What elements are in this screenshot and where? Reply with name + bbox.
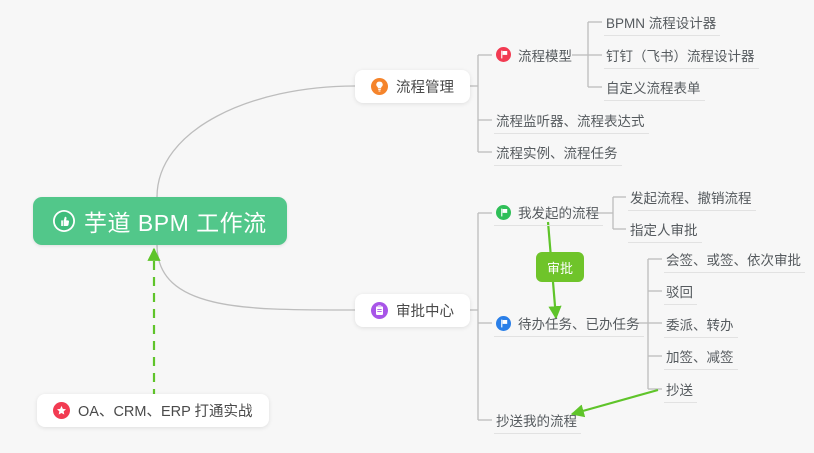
leaf-bpmn-designer[interactable]: BPMN 流程设计器: [604, 9, 720, 36]
flag-green-icon: [496, 205, 511, 220]
branch-node-process-management[interactable]: 流程管理: [355, 70, 470, 103]
leaf-label-reject: 驳回: [666, 281, 693, 301]
leaf-start-cancel[interactable]: 发起流程、撤销流程: [628, 184, 756, 211]
branch-node-approval-center[interactable]: 审批中心: [355, 294, 470, 327]
leaf-listener-expression[interactable]: 流程监听器、流程表达式: [494, 107, 649, 134]
leaf-label-todo-done-tasks: 待办任务、已办任务: [518, 313, 640, 333]
mindmap-canvas: 芋道 BPM 工作流 流程管理 流程模型 BPMN 流程设计器 钉钉（飞书）流程…: [0, 0, 814, 453]
leaf-label-custom-process-form: 自定义流程表单: [606, 77, 701, 97]
leaf-process-model[interactable]: 流程模型: [494, 41, 576, 68]
leaf-label-listener-expression: 流程监听器、流程表达式: [496, 110, 645, 130]
branch-label-process-management: 流程管理: [396, 76, 454, 97]
leaf-label-instance-task: 流程实例、流程任务: [496, 142, 618, 162]
leaf-my-initiated[interactable]: 我发起的流程: [494, 199, 603, 226]
leaf-instance-task[interactable]: 流程实例、流程任务: [494, 139, 622, 166]
leaf-label-cc: 抄送: [666, 379, 693, 399]
root-node[interactable]: 芋道 BPM 工作流: [33, 197, 287, 245]
leaf-reject[interactable]: 驳回: [664, 278, 697, 305]
bottom-note-label: OA、CRM、ERP 打通实战: [78, 400, 253, 421]
leaf-dingtalk-feishu-designer[interactable]: 钉钉（飞书）流程设计器: [604, 42, 759, 69]
leaf-delegate-transfer[interactable]: 委派、转办: [664, 311, 738, 338]
leaf-label-cc-to-me: 抄送我的流程: [496, 410, 577, 430]
leaf-cc-to-me[interactable]: 抄送我的流程: [494, 407, 581, 434]
leaf-custom-process-form[interactable]: 自定义流程表单: [604, 74, 705, 101]
leaf-label-my-initiated: 我发起的流程: [518, 202, 599, 222]
thumbs-up-icon: [53, 210, 75, 232]
leaf-label-countersign: 会签、或签、依次审批: [666, 249, 801, 269]
leaf-add-remove-sign[interactable]: 加签、减签: [664, 343, 738, 370]
leaf-assignee-approval[interactable]: 指定人审批: [628, 216, 702, 243]
leaf-label-process-model: 流程模型: [518, 45, 572, 65]
lightbulb-icon: [371, 78, 388, 95]
flag-blue-icon: [496, 316, 511, 331]
approval-pill-label: 审批: [547, 258, 573, 277]
flag-red-icon: [496, 47, 511, 62]
leaf-todo-done-tasks[interactable]: 待办任务、已办任务: [494, 310, 644, 337]
leaf-label-bpmn-designer: BPMN 流程设计器: [606, 12, 716, 32]
approval-annotation-pill: 审批: [536, 252, 584, 282]
leaf-label-dingtalk-feishu-designer: 钉钉（飞书）流程设计器: [606, 45, 755, 65]
leaf-label-assignee-approval: 指定人审批: [630, 219, 698, 239]
star-icon: [53, 402, 70, 419]
leaf-label-start-cancel: 发起流程、撤销流程: [630, 187, 752, 207]
leaf-cc[interactable]: 抄送: [664, 376, 697, 403]
bottom-note-node[interactable]: OA、CRM、ERP 打通实战: [37, 394, 269, 427]
root-label: 芋道 BPM 工作流: [84, 204, 267, 238]
clipboard-icon: [371, 302, 388, 319]
branch-label-approval-center: 审批中心: [396, 300, 454, 321]
leaf-label-delegate-transfer: 委派、转办: [666, 314, 734, 334]
leaf-countersign[interactable]: 会签、或签、依次审批: [664, 246, 805, 273]
leaf-label-add-remove-sign: 加签、减签: [666, 346, 734, 366]
